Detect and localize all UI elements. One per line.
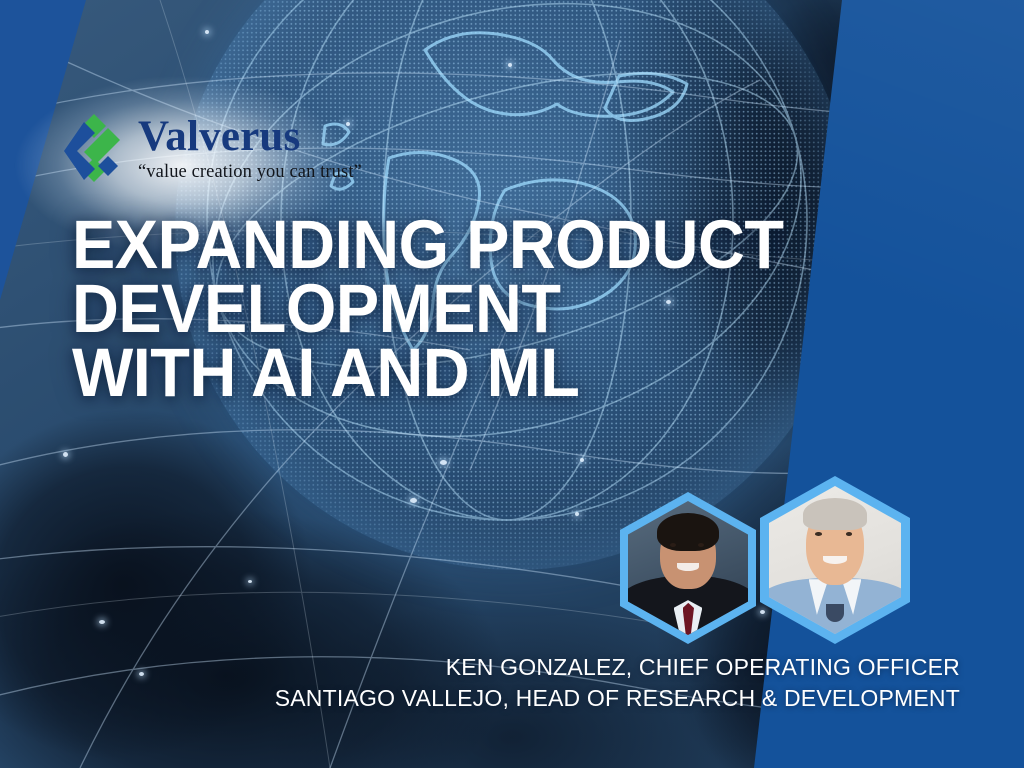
brand-tagline: “value creation you can trust” — [138, 163, 362, 182]
presenter-line-2: SANTIAGO VALLEJO, HEAD OF RESEARCH & DEV… — [240, 683, 960, 714]
brand-logo: Valverus “value creation you can trust” — [64, 112, 362, 184]
valverus-diamond-logo-icon — [64, 112, 126, 184]
slide-title: EXPANDING PRODUCT DEVELOPMENT WITH AI AN… — [72, 213, 918, 405]
presenter-credits: KEN GONZALEZ, CHIEF OPERATING OFFICER SA… — [240, 652, 960, 713]
title-line-2: DEVELOPMENT — [72, 277, 918, 341]
presentation-slide: Valverus “value creation you can trust” … — [0, 0, 1024, 768]
brand-name: Valverus — [138, 115, 362, 158]
title-line-1: EXPANDING PRODUCT — [72, 213, 918, 277]
title-line-3: WITH AI AND ML — [72, 341, 918, 405]
presenter-portraits — [612, 470, 942, 650]
brand-logo-text: Valverus “value creation you can trust” — [138, 115, 362, 182]
presenter-line-1: KEN GONZALEZ, CHIEF OPERATING OFFICER — [240, 652, 960, 683]
